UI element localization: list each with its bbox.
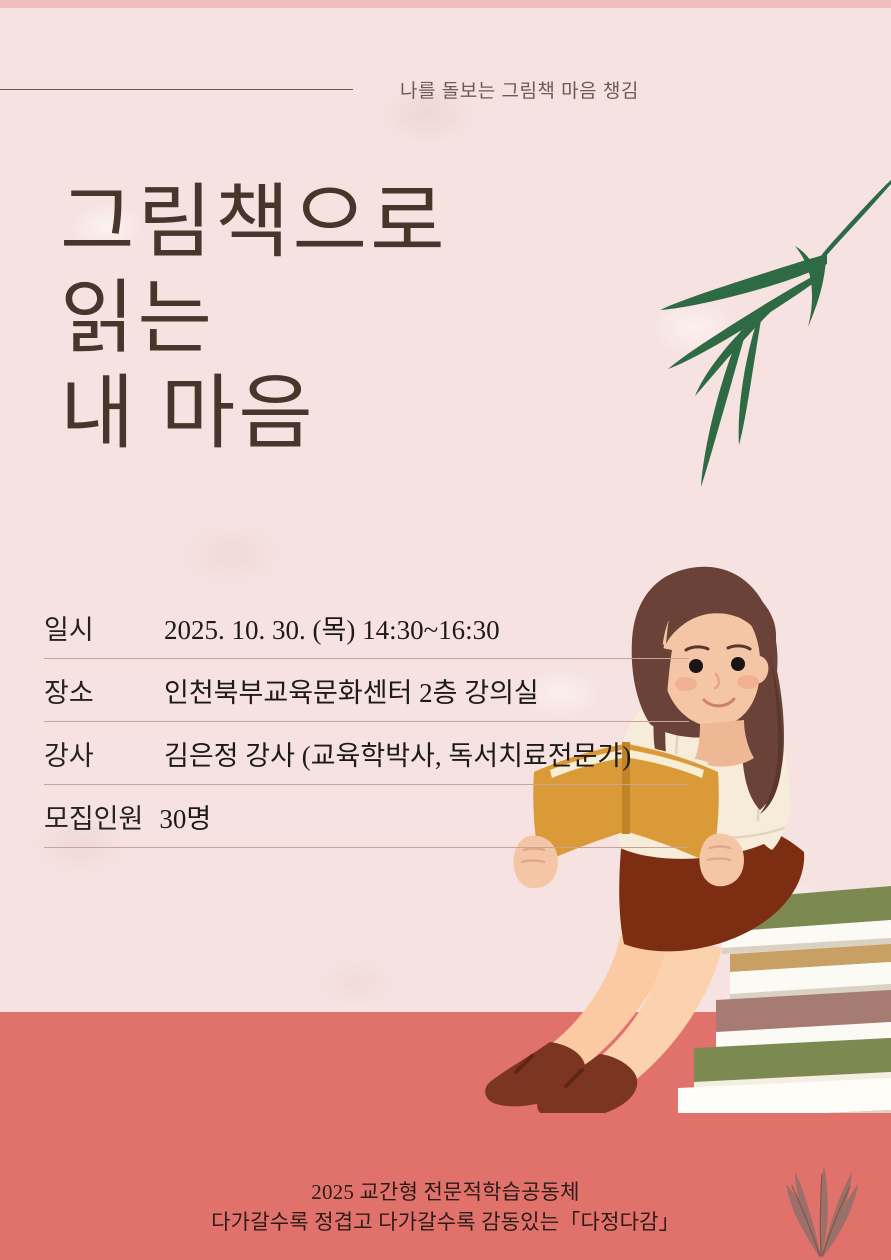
info-label-date: 일시 [44,608,164,647]
info-row-instructor: 강사 김은정 강사 (교육학박사, 독서치료전문가) [44,722,689,785]
footer-line-1: 2025 교간형 전문적학습공동체 [0,1178,891,1208]
info-label-capacity: 모집인원 [44,797,143,836]
title-line-2: 읽는 [60,272,448,368]
tagline-row: 나를 돌보는 그림책 마음 챙김 [0,74,891,104]
tagline-rule [0,89,353,90]
poster-canvas: 나를 돌보는 그림책 마음 챙김 그림책으로 읽는 내 마음 일시 2025. … [0,0,891,1260]
info-table: 일시 2025. 10. 30. (목) 14:30~16:30 장소 인천북부… [44,596,689,848]
title-line-1: 그림책으로 [60,176,448,272]
info-row-date: 일시 2025. 10. 30. (목) 14:30~16:30 [44,596,689,659]
top-accent-strip [0,0,891,8]
footer-line-2: 다가갈수록 정겹고 다가갈수록 감동있는「다정다감」 [0,1208,891,1238]
info-label-instructor: 강사 [44,734,164,773]
info-row-place: 장소 인천북부교육문화센터 2층 강의실 [44,659,689,722]
tagline-text: 나를 돌보는 그림책 마음 챙김 [400,76,639,103]
page-title: 그림책으로 읽는 내 마음 [60,176,448,463]
info-value-instructor: 김은정 강사 (교육학박사, 독서치료전문가) [164,734,631,773]
info-value-capacity: 30명 [159,797,211,836]
info-value-date: 2025. 10. 30. (목) 14:30~16:30 [164,608,500,647]
footer-block: 2025 교간형 전문적학습공동체 다가갈수록 정겹고 다가갈수록 감동있는「다… [0,1178,891,1238]
info-row-capacity: 모집인원 30명 [44,785,689,848]
green-branch-icon [590,180,891,500]
info-label-place: 장소 [44,671,164,710]
title-line-3: 내 마음 [60,367,448,463]
info-value-place: 인천북부교육문화센터 2층 강의실 [164,671,539,710]
